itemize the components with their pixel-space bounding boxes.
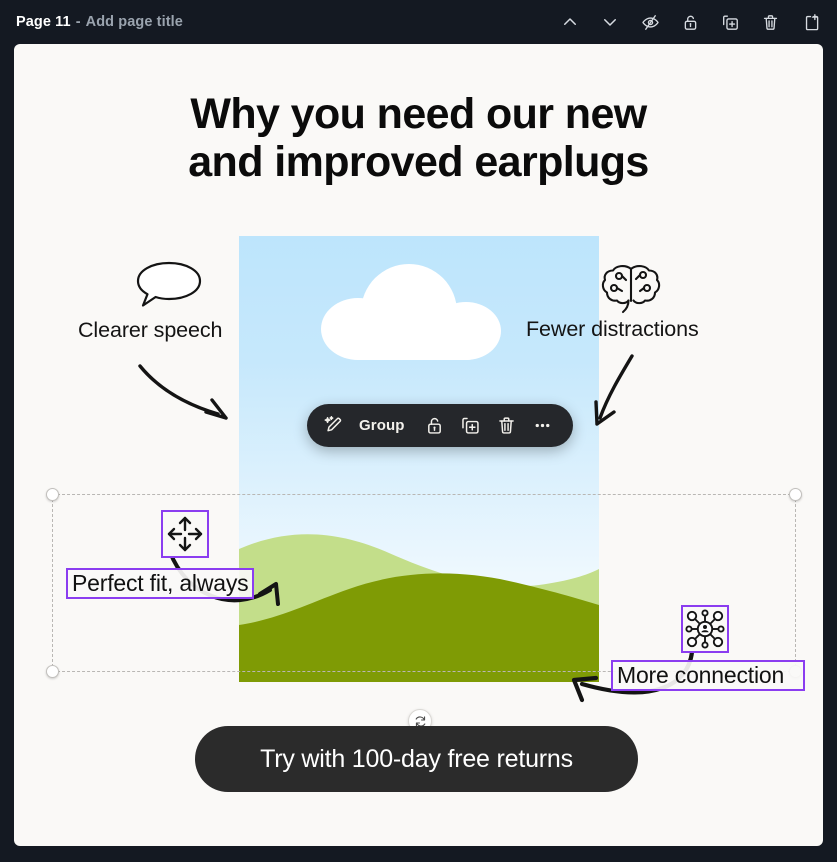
annotation-clearer-speech[interactable]: Clearer speech	[78, 318, 222, 343]
page-label[interactable]: Page 11 - Add page title	[16, 14, 183, 30]
headline-line-1: Why you need our new	[14, 90, 823, 138]
resize-handle-bottom-right[interactable]	[789, 665, 802, 678]
page-actions	[557, 9, 823, 35]
landscape-image[interactable]	[239, 236, 599, 682]
resize-handle-top-right[interactable]	[789, 488, 802, 501]
text-more-connection[interactable]: More connection	[611, 660, 805, 691]
magic-edit-icon[interactable]	[317, 410, 349, 442]
lock-icon[interactable]	[419, 410, 451, 442]
headline-line-2: and improved earplugs	[14, 138, 823, 186]
page-topbar: Page 11 - Add page title	[0, 0, 837, 44]
hide-icon[interactable]	[637, 9, 663, 35]
delete-icon[interactable]	[757, 9, 783, 35]
page-number: Page 11	[16, 14, 71, 30]
annotation-fewer-distractions[interactable]: Fewer distractions	[526, 317, 699, 342]
network-connection-icon[interactable]	[681, 605, 729, 653]
brain-icon	[599, 261, 663, 317]
slide-canvas[interactable]: Why you need our new and improved earplu…	[14, 44, 823, 846]
text-perfect-fit[interactable]: Perfect fit, always	[66, 568, 254, 599]
page-label-separator: -	[76, 14, 81, 30]
group-button[interactable]: Group	[353, 417, 415, 434]
cloud-shape	[321, 264, 501, 360]
resize-handle-top-left[interactable]	[46, 488, 59, 501]
cta-button[interactable]: Try with 100-day free returns	[195, 726, 638, 792]
resize-handle-bottom-left[interactable]	[46, 665, 59, 678]
lock-icon[interactable]	[677, 9, 703, 35]
page-title-input[interactable]: Add page title	[86, 14, 183, 30]
hills-shape	[239, 507, 599, 682]
slide-headline[interactable]: Why you need our new and improved earplu…	[14, 90, 823, 186]
selection-context-toolbar: Group	[307, 404, 573, 447]
arrow-clearer-speech	[134, 360, 244, 430]
app-root: Page 11 - Add page title	[0, 0, 837, 862]
expand-arrows-icon[interactable]	[161, 510, 209, 558]
duplicate-icon[interactable]	[717, 9, 743, 35]
move-up-icon[interactable]	[557, 9, 583, 35]
move-down-icon[interactable]	[597, 9, 623, 35]
more-options-icon[interactable]	[527, 410, 559, 442]
speech-bubble-icon	[134, 260, 204, 312]
duplicate-icon[interactable]	[455, 410, 487, 442]
delete-icon[interactable]	[491, 410, 523, 442]
export-icon[interactable]	[797, 9, 823, 35]
